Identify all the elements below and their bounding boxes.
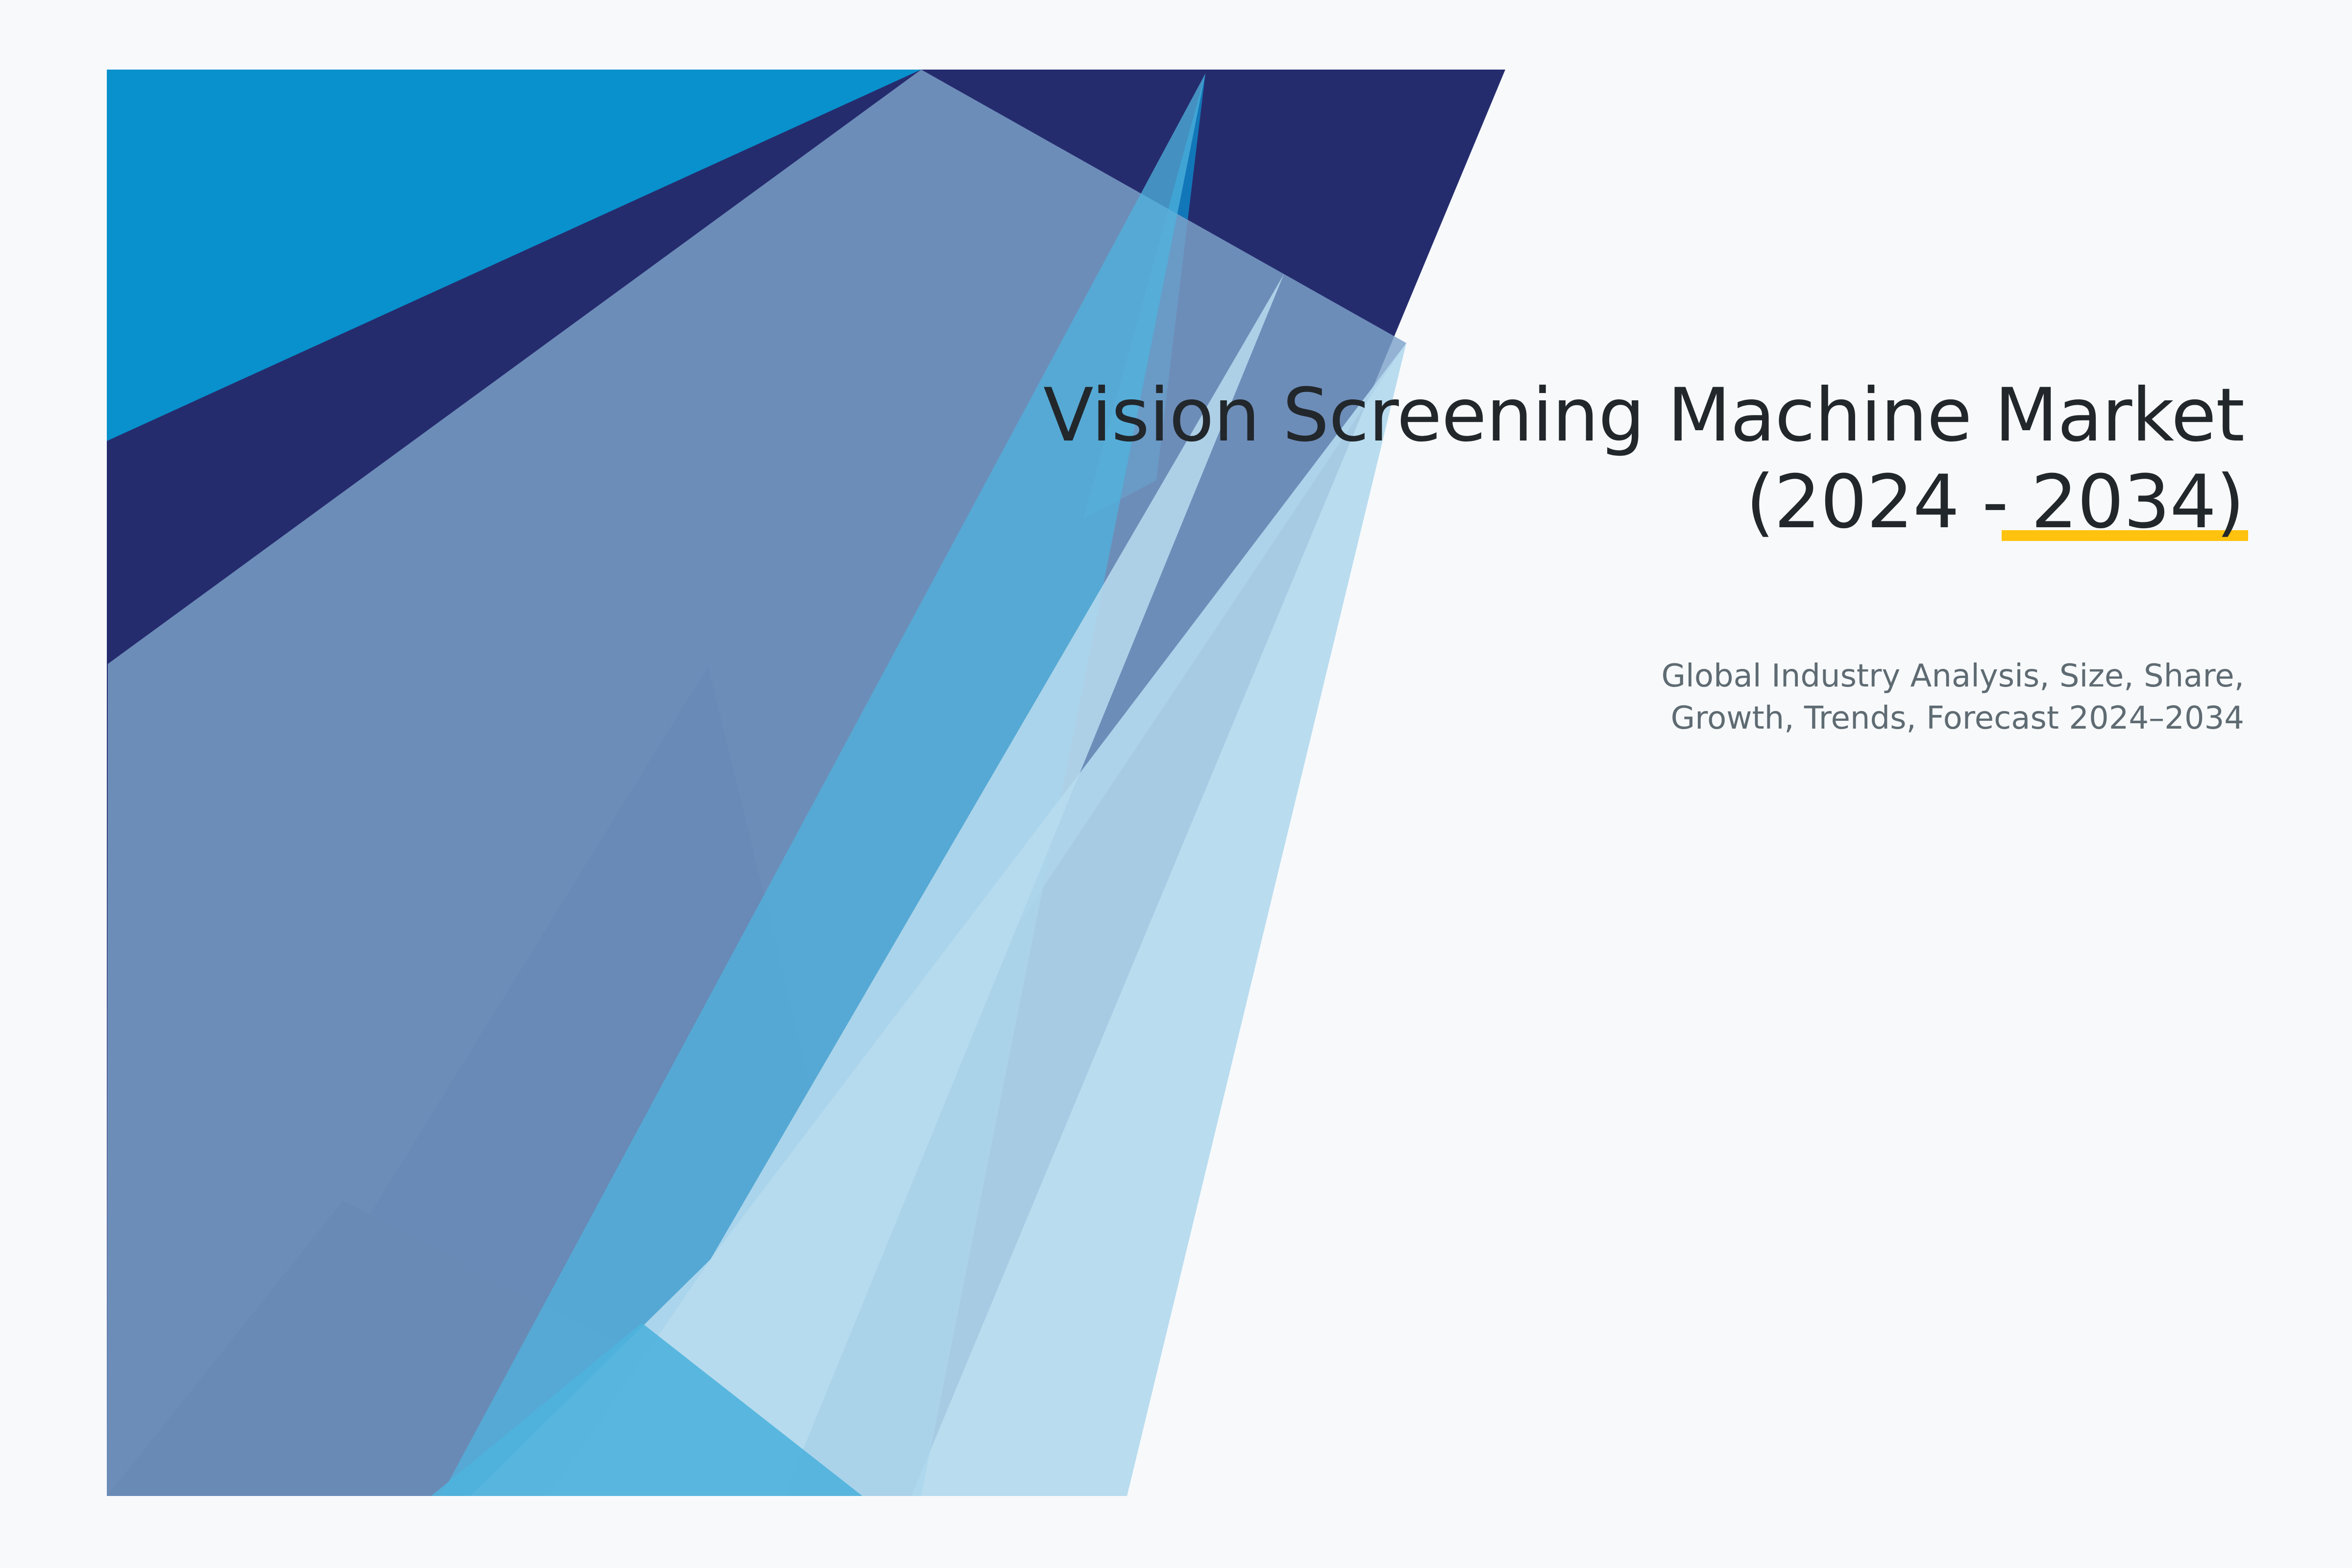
abstract-geometric-cover-graphic <box>0 0 2352 1568</box>
cover-text-block: Vision Screening Machine Market (2024 - … <box>980 372 2244 546</box>
page-title: Vision Screening Machine Market (2024 - … <box>980 372 2244 546</box>
report-cover-page: Vision Screening Machine Market (2024 - … <box>0 0 2352 1568</box>
page-subtitle: Global Industry Analysis, Size, Share, G… <box>1274 656 2244 740</box>
